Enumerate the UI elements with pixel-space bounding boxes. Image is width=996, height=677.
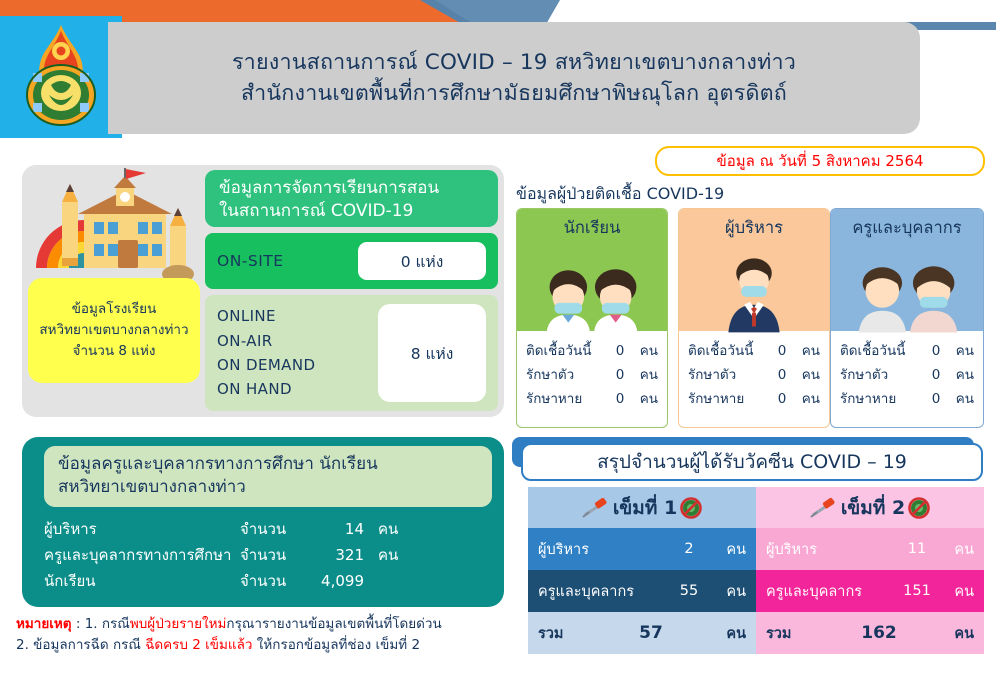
personnel-rows: ผู้บริหาร จำนวน 14 คน ครูและบุคลากรทางกา…	[44, 517, 504, 594]
footnote-line1-red: พบผู้ป่วยรายใหม่	[130, 616, 227, 632]
patient-card-stats: ติดเชื้อวันนี้ 0 คน รักษาตัว 0 คน รักษาห…	[831, 331, 983, 411]
footnote-line1: หมายเหตุ : 1. กรณีพบผู้ป่วยรายใหม่กรุณาร…	[16, 614, 526, 635]
personnel-row-countword: จำนวน	[240, 543, 304, 569]
patient-stat-value: 0	[610, 339, 630, 363]
teachers-staff-icon	[831, 247, 983, 333]
patient-stat-label: ติดเชื้อวันนี้	[688, 339, 772, 363]
patient-stat-label: ติดเชื้อวันนี้	[526, 339, 610, 363]
vaccine-row: ครูและบุคลากร 55 คน	[528, 570, 756, 612]
vaccine-total-value: 162	[824, 623, 934, 643]
patient-stat-value: 0	[926, 363, 946, 387]
data-as-of-date-banner: ข้อมูล ณ วันที่ 5 สิงหาคม 2564	[655, 146, 985, 176]
personnel-row-count: 14	[304, 517, 364, 543]
patient-stat-unit: คน	[946, 339, 974, 363]
online-mode-item: ON DEMAND	[217, 353, 378, 377]
patient-stat-row: รักษาตัว 0 คน	[526, 363, 658, 387]
vaccine-total-unit: คน	[934, 622, 974, 645]
patient-stat-row: รักษาตัว 0 คน	[688, 363, 820, 387]
patient-stat-value: 0	[772, 387, 792, 411]
patient-card-stats: ติดเชื้อวันนี้ 0 คน รักษาตัว 0 คน รักษาห…	[517, 331, 667, 411]
online-mode-item: ON HAND	[217, 377, 378, 401]
patient-stat-row: ติดเชื้อวันนี้ 0 คน	[688, 339, 820, 363]
patient-stat-label: ติดเชื้อวันนี้	[840, 339, 926, 363]
patient-stat-label: รักษาหาย	[526, 387, 610, 411]
patient-stat-row: ติดเชื้อวันนี้ 0 คน	[840, 339, 974, 363]
footnote-line1-b: กรุณารายงานข้อมูลเขตพื้นที่โดยด่วน	[226, 616, 441, 632]
online-value: 8 แห่ง	[378, 304, 486, 402]
patient-card-teachers-staff: ครูและบุคลากร ติดเชื้อวันนี้ 0 คน รักษาต…	[830, 208, 984, 428]
personnel-header-line2: สหวิทยาเขตบางกลางท่าว	[58, 476, 478, 499]
patient-stat-value: 0	[610, 387, 630, 411]
vaccine-total-unit: คน	[706, 622, 746, 645]
patient-stat-unit: คน	[946, 363, 974, 387]
personnel-row-count: 4,099	[304, 569, 364, 595]
patient-stat-unit: คน	[792, 387, 820, 411]
virus-blocked-icon	[908, 497, 930, 519]
students-icon	[517, 247, 667, 333]
vaccine-column-dose1: เข็มที่ 1 ผู้บริหาร 2 คน ครูและบุคลากร 5…	[528, 487, 756, 662]
teaching-header-line2: ในสถานการณ์ COVID-19	[219, 200, 484, 223]
patient-stat-unit: คน	[792, 363, 820, 387]
ministry-of-education-emblem	[13, 21, 109, 133]
ministry-emblem-panel	[0, 16, 122, 138]
page-title-line1: รายงานสถานการณ์ COVID – 19 สหวิทยาเขตบาง…	[232, 47, 796, 78]
vaccine-table: เข็มที่ 1 ผู้บริหาร 2 คน ครูและบุคลากร 5…	[528, 487, 984, 662]
vaccine-row-unit: คน	[940, 580, 974, 603]
vaccine-total-row: รวม 162 คน	[756, 612, 984, 654]
patient-stat-unit: คน	[630, 339, 658, 363]
page-title-line2: สำนักงานเขตพื้นที่การศึกษามัธยมศึกษาพิษณ…	[241, 78, 787, 109]
personnel-row-countword: จำนวน	[240, 569, 304, 595]
footnote-label: หมายเหตุ	[16, 616, 72, 632]
vaccine-total-label: รวม	[766, 622, 824, 645]
patient-card-header: ครูและบุคลากร	[831, 209, 983, 331]
vaccine-summary-banner: สรุปจำนวนผู้ได้รับวัคซีน COVID – 19	[521, 443, 983, 481]
patient-card-stats: ติดเชื้อวันนี้ 0 คน รักษาตัว 0 คน รักษาห…	[679, 331, 829, 411]
vaccine-row: ผู้บริหาร 11 คน	[756, 528, 984, 570]
patient-card-header: นักเรียน	[517, 209, 667, 331]
patient-stat-row: รักษาหาย 0 คน	[688, 387, 820, 411]
patient-stat-row: ติดเชื้อวันนี้ 0 คน	[526, 339, 658, 363]
school-note-line3: จำนวน 8 แห่ง	[73, 341, 156, 362]
footnote-line2: 2. ข้อมูลการฉีด กรณี ฉีดครบ 2 เข็มแล้ว ใ…	[16, 635, 526, 656]
vaccine-row: ผู้บริหาร 2 คน	[528, 528, 756, 570]
vaccine-row-label: ผู้บริหาร	[538, 538, 666, 561]
patient-stat-unit: คน	[630, 363, 658, 387]
personnel-row-name: ผู้บริหาร	[44, 517, 240, 543]
teaching-header: ข้อมูลการจัดการเรียนการสอน ในสถานการณ์ C…	[205, 170, 498, 227]
onsite-value: 0 แห่ง	[358, 242, 486, 280]
patient-stat-unit: คน	[630, 387, 658, 411]
school-count-note: ข้อมูลโรงเรียน สหวิทยาเขตบางกลางท่าว จำน…	[28, 278, 200, 383]
vaccine-row-label: ผู้บริหาร	[766, 538, 894, 561]
online-modes-list: ONLINE ON-AIR ON DEMAND ON HAND	[217, 304, 378, 401]
personnel-row: นักเรียน จำนวน 4,099	[44, 569, 504, 595]
personnel-row: ผู้บริหาร จำนวน 14 คน	[44, 517, 504, 543]
patient-stat-value: 0	[926, 339, 946, 363]
school-note-line1: ข้อมูลโรงเรียน	[72, 299, 157, 320]
patient-stat-value: 0	[926, 387, 946, 411]
syringe-icon	[810, 498, 838, 518]
patient-card-students: นักเรียน ติดเชื้อวันนี้ 0 คน รักษาตัว 0 …	[516, 208, 668, 428]
patient-stat-row: รักษาหาย 0 คน	[526, 387, 658, 411]
patient-stat-unit: คน	[946, 387, 974, 411]
personnel-row-unit: คน	[364, 543, 398, 569]
vaccine-total-value: 57	[596, 623, 706, 643]
patient-stat-label: รักษาตัว	[526, 363, 610, 387]
vaccine-column-label: เข็มที่ 2	[841, 493, 905, 523]
footnote-line2-red: ฉีดครบ 2 เข็มแล้ว	[145, 637, 252, 653]
patient-stat-value: 0	[772, 363, 792, 387]
personnel-row: ครูและบุคลากรทางการศึกษา จำนวน 321 คน	[44, 543, 504, 569]
footnote-line2-b: ให้กรอกข้อมูลที่ช่อง เข็มที่ 2	[252, 637, 420, 653]
vaccine-column-header: เข็มที่ 2	[756, 487, 984, 528]
patient-card-header: ผู้บริหาร	[679, 209, 829, 331]
onsite-label: ON-SITE	[217, 252, 358, 270]
online-mode-item: ONLINE	[217, 304, 378, 328]
vaccine-row-value: 151	[894, 583, 940, 599]
header-title-band: รายงานสถานการณ์ COVID – 19 สหวิทยาเขตบาง…	[108, 22, 920, 134]
vaccine-row-label: ครูและบุคลากร	[766, 580, 894, 603]
footnote-line2-a: 2. ข้อมูลการฉีด กรณี	[16, 637, 145, 653]
patient-stat-label: รักษาตัว	[840, 363, 926, 387]
vaccine-row-unit: คน	[940, 538, 974, 561]
personnel-header: ข้อมูลครูและบุคลากรทางการศึกษา นักเรียน …	[44, 446, 492, 507]
patient-stat-row: รักษาหาย 0 คน	[840, 387, 974, 411]
personnel-header-line1: ข้อมูลครูและบุคลากรทางการศึกษา นักเรียน	[58, 453, 478, 476]
onsite-row: ON-SITE 0 แห่ง	[205, 233, 498, 289]
patient-stat-unit: คน	[792, 339, 820, 363]
vaccine-total-label: รวม	[538, 622, 596, 645]
personnel-row-name: ครูและบุคลากรทางการศึกษา	[44, 543, 240, 569]
patient-section-title: ข้อมูลผู้ป่วยติดเชื้อ COVID-19	[516, 182, 724, 207]
vaccine-column-dose2: เข็มที่ 2 ผู้บริหาร 11 คน ครูและบุคลากร …	[756, 487, 984, 662]
vaccine-row-unit: คน	[712, 580, 746, 603]
patient-card-title: นักเรียน	[564, 215, 621, 241]
online-mode-item: ON-AIR	[217, 329, 378, 353]
patient-stat-value: 0	[610, 363, 630, 387]
vaccine-row: ครูและบุคลากร 151 คน	[756, 570, 984, 612]
patient-stat-value: 0	[772, 339, 792, 363]
administrator-icon	[679, 247, 829, 333]
patient-stat-label: รักษาหาย	[840, 387, 926, 411]
vaccine-row-value: 2	[666, 541, 712, 557]
syringe-icon	[582, 498, 610, 518]
virus-blocked-icon	[680, 497, 702, 519]
personnel-row-countword: จำนวน	[240, 517, 304, 543]
vaccine-row-unit: คน	[712, 538, 746, 561]
personnel-row-name: นักเรียน	[44, 569, 240, 595]
footnote: หมายเหตุ : 1. กรณีพบผู้ป่วยรายใหม่กรุณาร…	[16, 614, 526, 656]
teaching-header-line1: ข้อมูลการจัดการเรียนการสอน	[219, 177, 484, 200]
patient-stat-row: รักษาตัว 0 คน	[840, 363, 974, 387]
patient-card-title: ครูและบุคลากร	[852, 215, 961, 241]
vaccine-total-row: รวม 57 คน	[528, 612, 756, 654]
personnel-row-unit: คน	[364, 517, 398, 543]
online-modes-row: ONLINE ON-AIR ON DEMAND ON HAND 8 แห่ง	[205, 295, 498, 411]
personnel-row-count: 321	[304, 543, 364, 569]
patient-stat-label: รักษาหาย	[688, 387, 772, 411]
patient-stat-label: รักษาตัว	[688, 363, 772, 387]
patient-card-title: ผู้บริหาร	[725, 215, 783, 241]
school-note-line2: สหวิทยาเขตบางกลางท่าว	[39, 320, 188, 341]
vaccine-row-label: ครูและบุคลากร	[538, 580, 666, 603]
vaccine-column-header: เข็มที่ 1	[528, 487, 756, 528]
vaccine-row-value: 55	[666, 583, 712, 599]
vaccine-row-value: 11	[894, 541, 940, 557]
patient-card-administrators: ผู้บริหาร ติดเชื้อวันนี้ 0 คน รักษาตัว 0…	[678, 208, 830, 428]
footnote-line1-a: : 1. กรณี	[72, 616, 130, 632]
vaccine-column-label: เข็มที่ 1	[613, 493, 677, 523]
personnel-panel: ข้อมูลครูและบุคลากรทางการศึกษา นักเรียน …	[22, 437, 504, 607]
